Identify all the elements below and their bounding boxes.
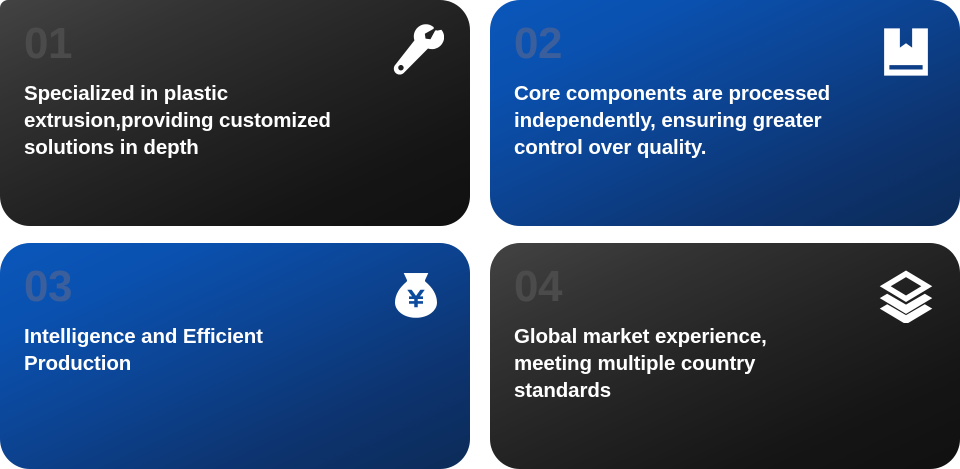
card-text-02: Core components are processed independen… <box>514 80 934 161</box>
card-number-04: 04 <box>514 265 934 309</box>
feature-card-04[interactable]: 04 Global market experience, meeting mul… <box>490 243 960 469</box>
card-text-04: Global market experience, meeting multip… <box>514 323 894 404</box>
card-text-01: Specialized in plastic extrusion,providi… <box>24 80 444 161</box>
card-text-03: Intelligence and Efficient Production <box>24 323 394 377</box>
card-number-02: 02 <box>514 22 934 66</box>
feature-card-02[interactable]: 02 Core components are processed indepen… <box>490 0 960 226</box>
book-bookmark-icon <box>878 24 934 80</box>
wrench-icon <box>388 24 444 80</box>
card-number-01: 01 <box>24 22 444 66</box>
feature-card-grid: 01 Specialized in plastic extrusion,prov… <box>0 0 960 459</box>
feature-card-03[interactable]: 03 Intelligence and Efficient Production <box>0 243 470 469</box>
layers-stack-icon <box>878 267 934 323</box>
card-number-03: 03 <box>24 265 444 309</box>
feature-card-01[interactable]: 01 Specialized in plastic extrusion,prov… <box>0 0 470 226</box>
money-bag-yen-icon <box>388 267 444 323</box>
